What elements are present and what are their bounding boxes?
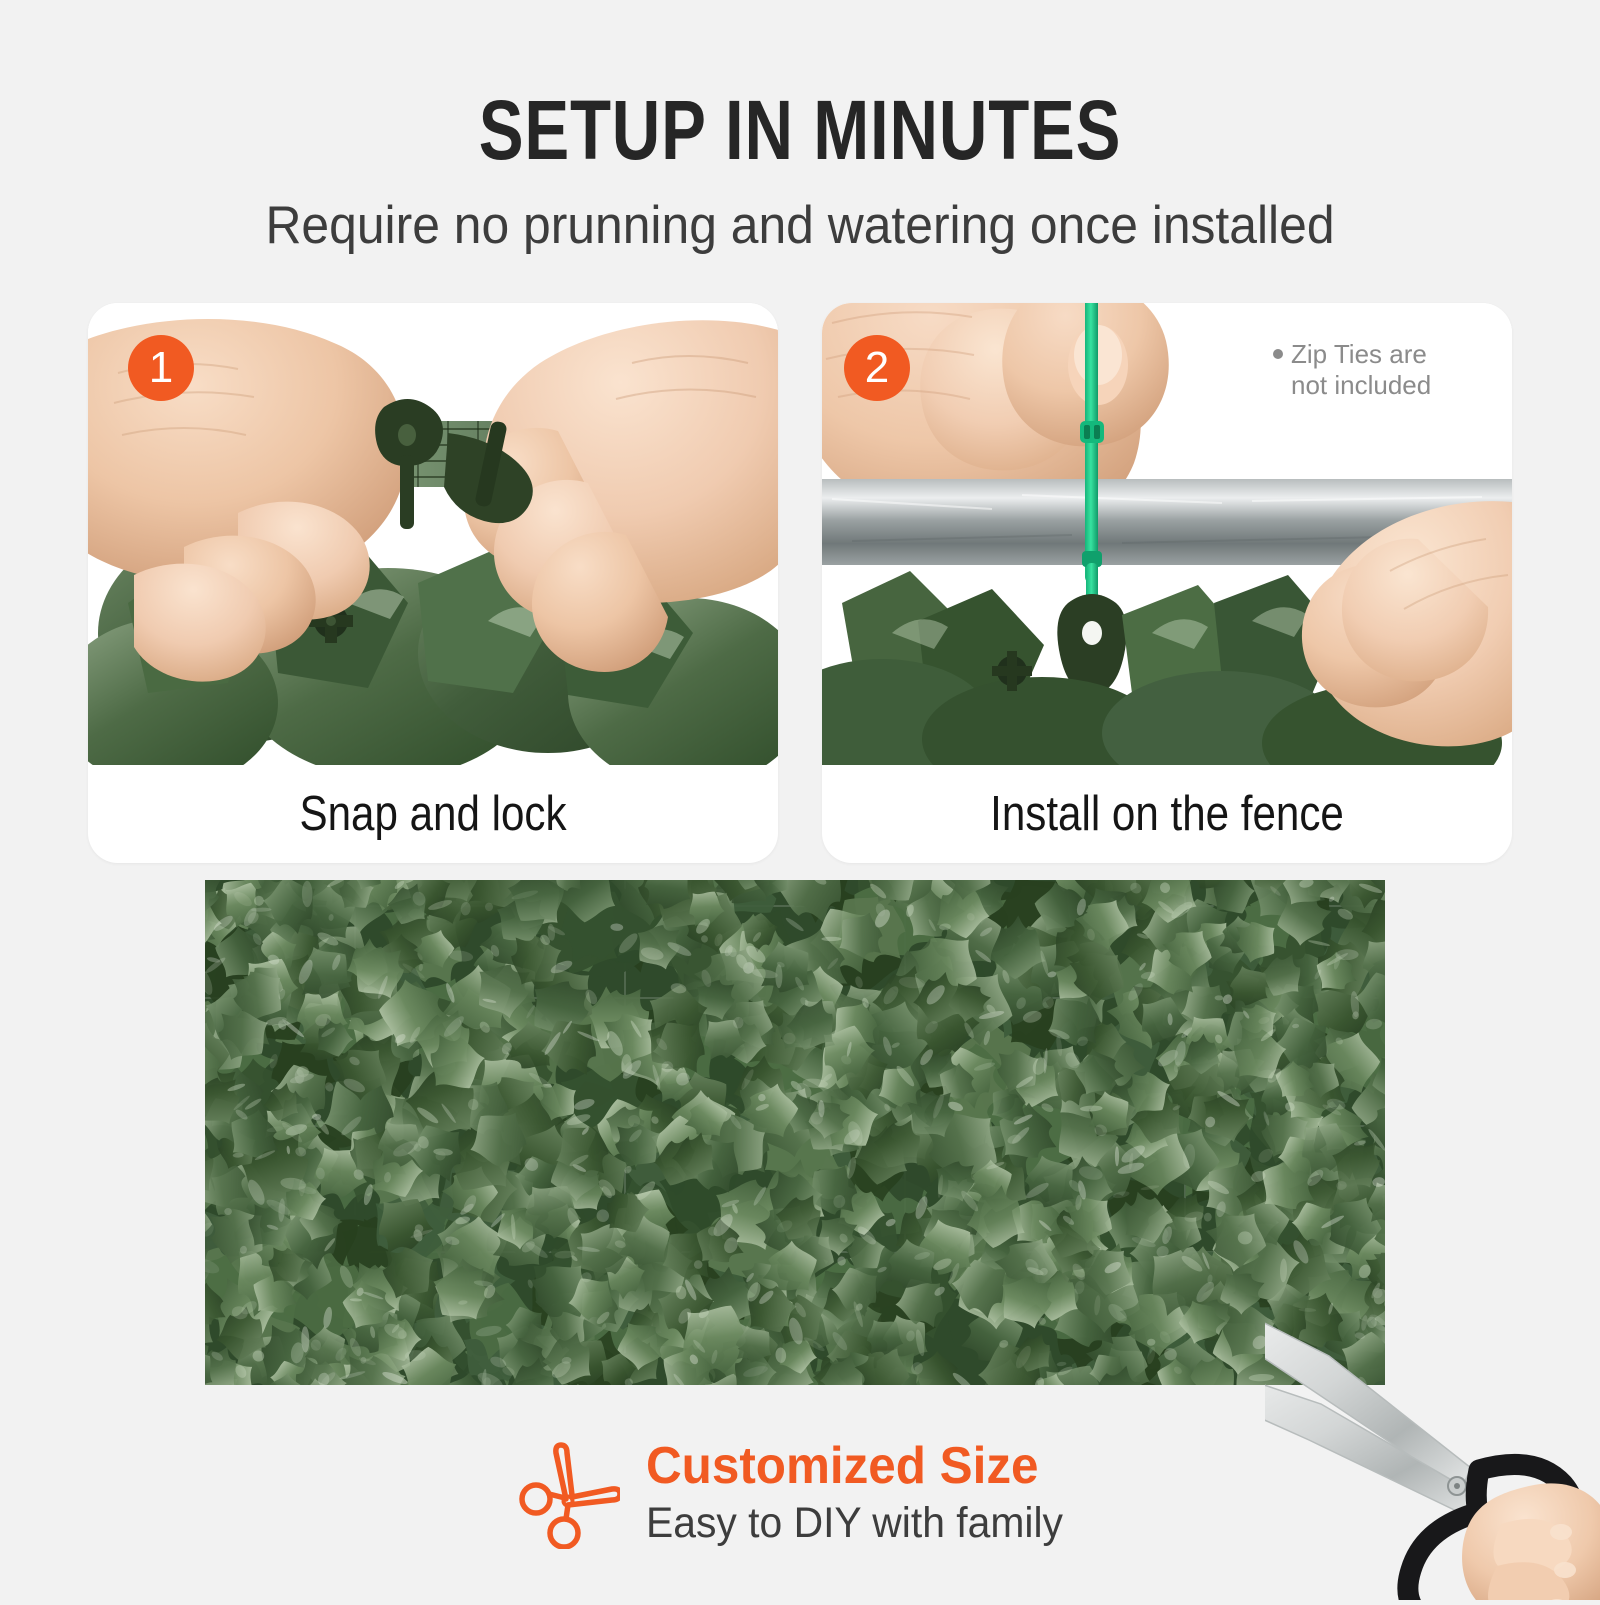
customized-size-promo: Customized Size Easy to DIY with family: [0, 1418, 1600, 1568]
infographic-stage: SETUP IN MINUTES Require no prunning and…: [0, 0, 1600, 1600]
page-subtitle: Require no prunning and watering once in…: [48, 196, 1552, 256]
hedge-leaves: [205, 880, 1385, 1385]
step-2-caption: Install on the fence: [870, 765, 1463, 863]
step-1-badge: 1: [128, 335, 194, 401]
zip-ties-note: Zip Ties are not included: [1273, 339, 1488, 401]
zip-ties-note-line1: Zip Ties are: [1291, 339, 1427, 369]
step-2-badge: 2: [844, 335, 910, 401]
promo-subtitle: Easy to DIY with family: [646, 1497, 1063, 1549]
step-card-2: 2 Zip Ties are not included Install on t…: [822, 303, 1512, 863]
step-card-1: 1 Snap and lock: [88, 303, 778, 863]
zip-ties-note-line2: not included: [1273, 370, 1431, 400]
promo-text-block: Customized Size Easy to DIY with family: [646, 1437, 1085, 1549]
step-1-caption: Snap and lock: [136, 765, 729, 863]
page-title: SETUP IN MINUTES: [160, 86, 1440, 174]
product-hedge-panel: [205, 880, 1385, 1385]
bullet-icon: [1273, 349, 1283, 359]
scissors-icon: [516, 1437, 620, 1549]
scissors-icon-glyph: [516, 1437, 620, 1549]
leaf-field: [205, 880, 1385, 1385]
promo-title: Customized Size: [646, 1437, 1039, 1495]
